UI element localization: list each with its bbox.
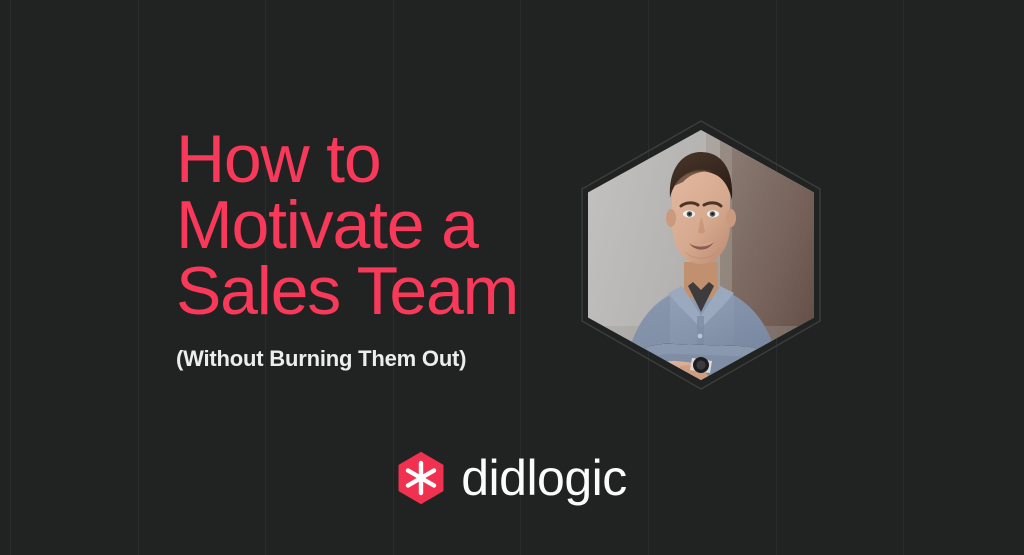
brand-wordmark: didlogic (461, 452, 627, 504)
page-subtitle: (Without Burning Them Out) (176, 324, 518, 372)
presentation-slide: How to Motivate a Sales Team (Without Bu… (0, 0, 1024, 555)
page-title: How to Motivate a Sales Team (176, 126, 518, 324)
brand-logo: didlogic (0, 452, 1024, 504)
headline-block: How to Motivate a Sales Team (Without Bu… (176, 126, 518, 372)
headline-line-1: How to (176, 126, 518, 192)
headline-line-3: Sales Team (176, 258, 518, 324)
headline-line-2: Motivate a (176, 192, 518, 258)
didlogic-hexagon-asterisk-icon (397, 452, 445, 504)
portrait-figure (576, 118, 826, 392)
